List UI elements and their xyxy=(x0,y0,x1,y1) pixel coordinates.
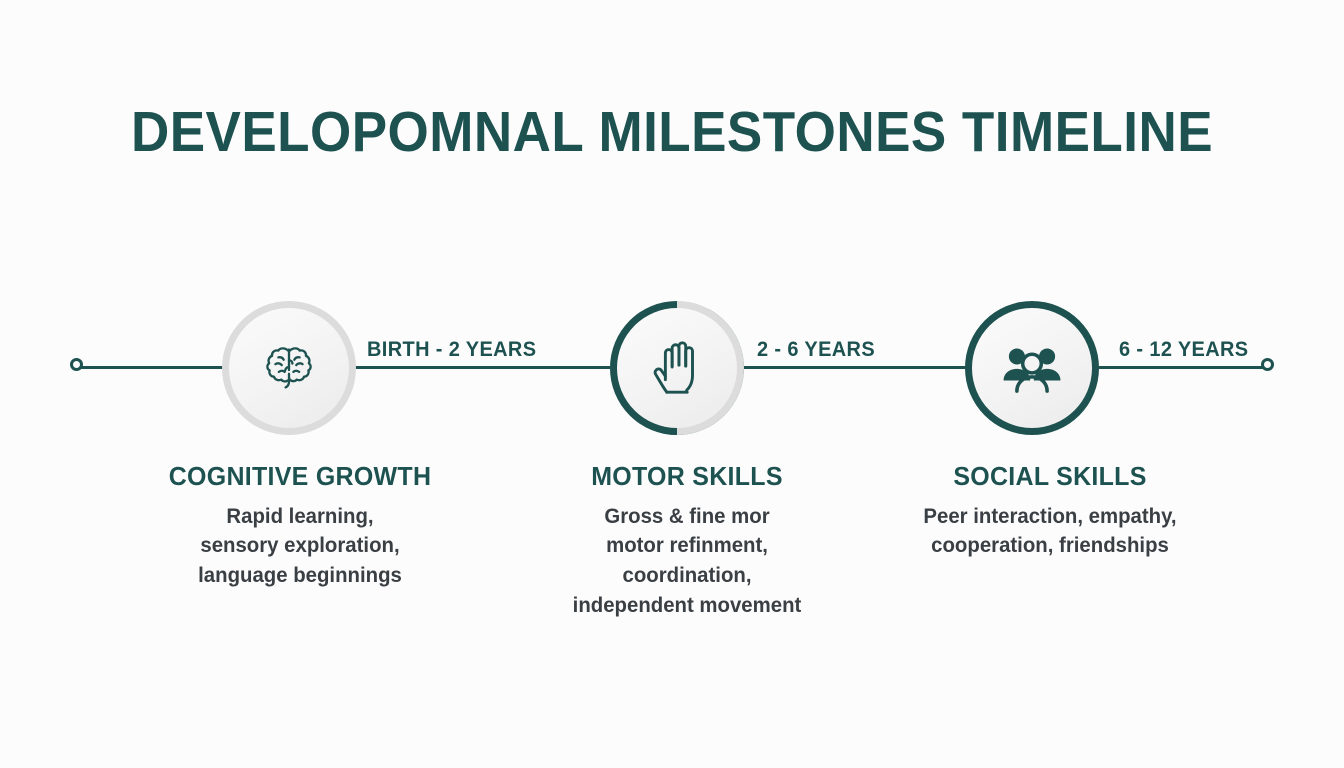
milestone-description-2: Gross & fine mor motor refinment, coordi… xyxy=(532,502,842,621)
description-line: coordination, xyxy=(532,561,842,591)
milestone-node-motor-skills[interactable] xyxy=(610,301,744,435)
timeline-end-dot xyxy=(1261,358,1274,371)
period-label-3: 6 - 12 YEARS xyxy=(1119,338,1248,362)
milestone-caption-3: SOCIAL SKILLS Peer interaction, empathy,… xyxy=(885,462,1215,561)
period-label-2: 2 - 6 YEARS xyxy=(757,338,875,362)
node-disc xyxy=(617,308,737,428)
milestone-title-1: COGNITIVE GROWTH xyxy=(146,462,453,491)
milestone-caption-1: COGNITIVE GROWTH Rapid learning, sensory… xyxy=(140,462,460,591)
milestone-description-3: Peer interaction, empathy, cooperation, … xyxy=(890,502,1210,562)
node-disc xyxy=(972,308,1092,428)
milestone-title-2: MOTOR SKILLS xyxy=(533,462,840,491)
description-line: independent movement xyxy=(532,591,842,621)
milestone-node-social-skills[interactable] xyxy=(965,301,1099,435)
description-line: Gross & fine mor xyxy=(532,502,842,532)
description-line: sensory exploration, xyxy=(145,531,455,561)
brain-icon xyxy=(258,337,320,399)
description-line: Rapid learning, xyxy=(145,502,455,532)
people-group-icon xyxy=(1000,340,1064,396)
description-line: motor refinment, xyxy=(532,531,842,561)
milestone-title-3: SOCIAL SKILLS xyxy=(892,462,1209,491)
milestone-caption-2: MOTOR SKILLS Gross & fine mor motor refi… xyxy=(527,462,847,621)
period-label-1: BIRTH - 2 YEARS xyxy=(367,338,536,362)
node-disc xyxy=(229,308,349,428)
milestone-description-1: Rapid learning, sensory exploration, lan… xyxy=(145,502,455,591)
description-line: Peer interaction, empathy, xyxy=(890,502,1210,532)
infographic-canvas: DEVELOPOMNAL MILESTONES TIMELINE xyxy=(0,0,1344,768)
description-line: cooperation, friendships xyxy=(890,531,1210,561)
hand-icon xyxy=(647,337,707,399)
timeline-start-dot xyxy=(70,358,83,371)
page-title: DEVELOPOMNAL MILESTONES TIMELINE xyxy=(47,103,1297,163)
milestone-node-cognitive-growth[interactable] xyxy=(222,301,356,435)
description-line: language beginnings xyxy=(145,561,455,591)
